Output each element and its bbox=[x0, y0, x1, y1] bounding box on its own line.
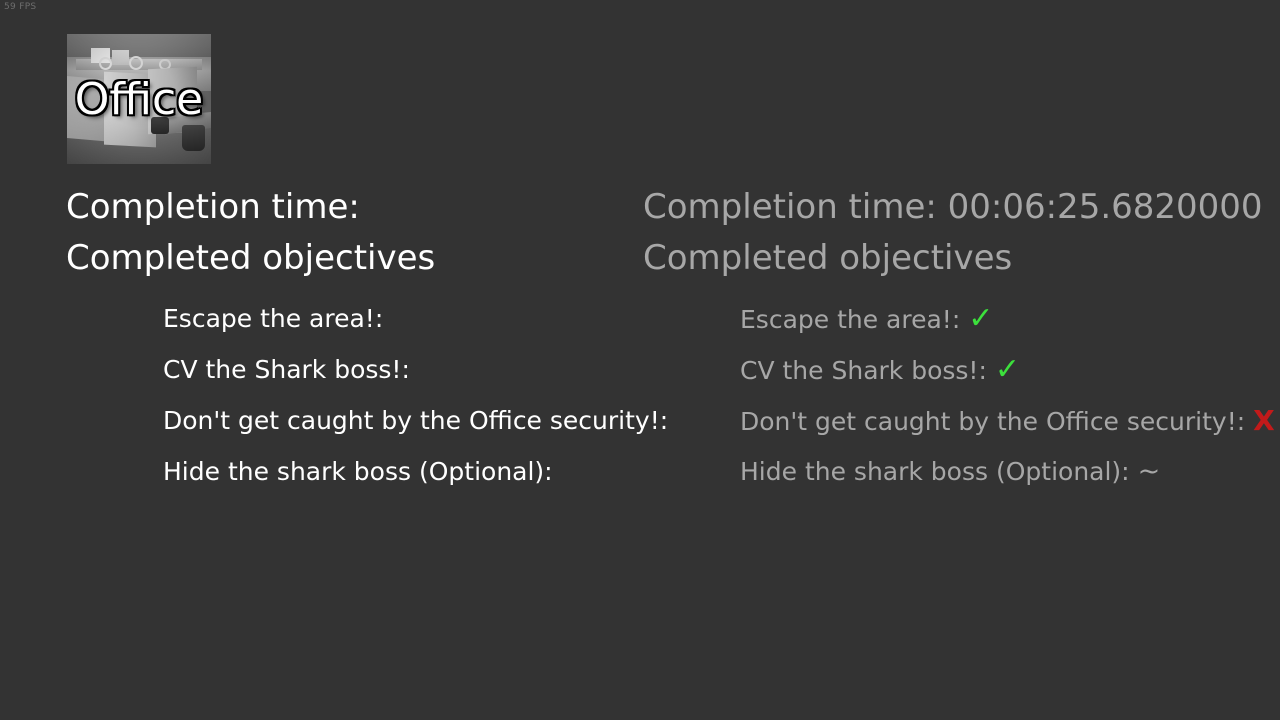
results-panel-values: Completion time: 00:06:25.6820000 Comple… bbox=[643, 182, 1275, 497]
objective-label: CV the Shark boss!: bbox=[163, 344, 410, 395]
objective-status-cross-icon: X bbox=[1253, 395, 1275, 446]
objective-status-tilde-icon: ~ bbox=[1138, 446, 1161, 497]
level-name-label: Office bbox=[67, 77, 211, 123]
objective-label: Escape the area!: bbox=[163, 293, 383, 344]
objective-label: CV the Shark boss!: bbox=[740, 345, 987, 396]
objective-row: CV the Shark boss!: ✓ bbox=[643, 344, 1275, 395]
completed-objectives-heading: Completed objectives bbox=[643, 233, 1275, 284]
objective-row: Hide the shark boss (Optional): ~ bbox=[643, 446, 1275, 497]
objective-list: Escape the area!: ✓ CV the Shark boss!: … bbox=[643, 293, 1275, 497]
completed-objectives-heading: Completed objectives bbox=[66, 233, 676, 284]
objective-row: CV the Shark boss!: bbox=[66, 344, 676, 395]
objective-label: Don't get caught by the Office security!… bbox=[163, 395, 668, 446]
objective-label: Hide the shark boss (Optional): bbox=[163, 446, 553, 497]
objective-list: Escape the area!: CV the Shark boss!: Do… bbox=[66, 293, 676, 497]
completion-time-heading: Completion time: bbox=[66, 182, 676, 233]
fps-counter: 59 FPS bbox=[4, 2, 36, 13]
objective-status-check-icon: ✓ bbox=[995, 344, 1020, 395]
objective-label: Hide the shark boss (Optional): bbox=[740, 446, 1130, 497]
completion-time-value-heading: Completion time: 00:06:25.6820000 bbox=[643, 182, 1275, 233]
game-results-screen: 59 FPS Office Completion time: Completed… bbox=[0, 0, 1280, 720]
objective-row: Escape the area!: ✓ bbox=[643, 293, 1275, 344]
objective-row: Don't get caught by the Office security!… bbox=[643, 395, 1275, 446]
objective-row: Don't get caught by the Office security!… bbox=[66, 395, 676, 446]
objective-status-check-icon: ✓ bbox=[968, 293, 993, 344]
objective-label: Escape the area!: bbox=[740, 294, 960, 345]
objective-row: Escape the area!: bbox=[66, 293, 676, 344]
objective-row: Hide the shark boss (Optional): bbox=[66, 446, 676, 497]
objective-label: Don't get caught by the Office security!… bbox=[740, 396, 1245, 447]
level-thumbnail-card: Office bbox=[67, 34, 211, 164]
results-panel-labels: Completion time: Completed objectives Es… bbox=[66, 182, 676, 497]
